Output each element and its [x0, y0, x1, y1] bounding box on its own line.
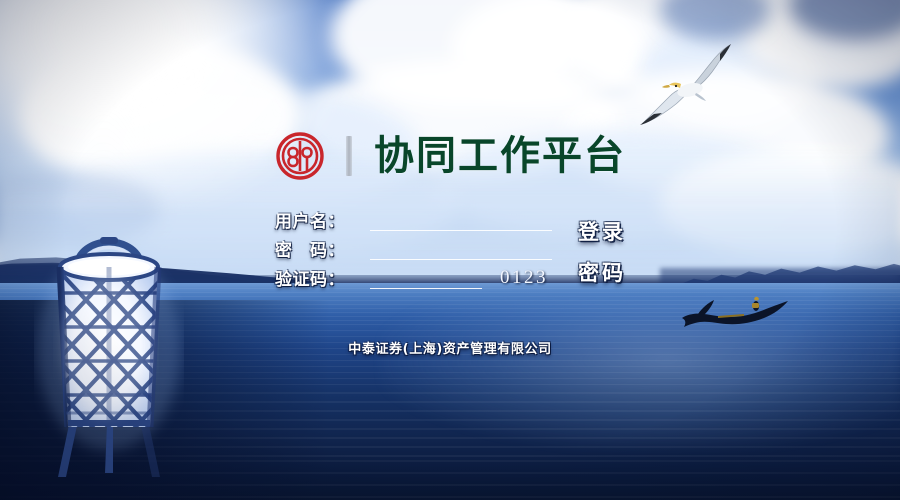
username-label: 用户名：	[275, 207, 370, 232]
action-buttons: 登录 密码	[578, 222, 688, 284]
captcha-label: 验证码：	[275, 265, 370, 290]
login-button[interactable]: 登录	[578, 222, 626, 243]
app-header: 协同工作平台	[0, 125, 900, 187]
captcha-code[interactable]: 0123	[500, 268, 548, 287]
header-divider	[346, 136, 352, 176]
company-footer: 中泰证券(上海)资产管理有限公司	[0, 338, 900, 357]
fishing-boat-icon	[678, 294, 796, 334]
password-input[interactable]	[370, 238, 552, 258]
login-page: 协同工作平台 用户名： 密 码： 验证码： 0123 登录 密码 中泰证券	[0, 0, 900, 500]
password-label: 密 码：	[275, 236, 370, 261]
seagull-icon	[636, 44, 746, 126]
captcha-field[interactable]	[370, 267, 482, 289]
username-field[interactable]	[370, 209, 552, 231]
username-input[interactable]	[370, 209, 552, 229]
zhongtai-circle-logo-icon	[274, 130, 326, 182]
page-title: 协同工作平台	[374, 136, 626, 176]
captcha-input[interactable]	[370, 267, 482, 287]
password-field[interactable]	[370, 238, 552, 260]
change-password-button[interactable]: 密码	[578, 263, 626, 284]
